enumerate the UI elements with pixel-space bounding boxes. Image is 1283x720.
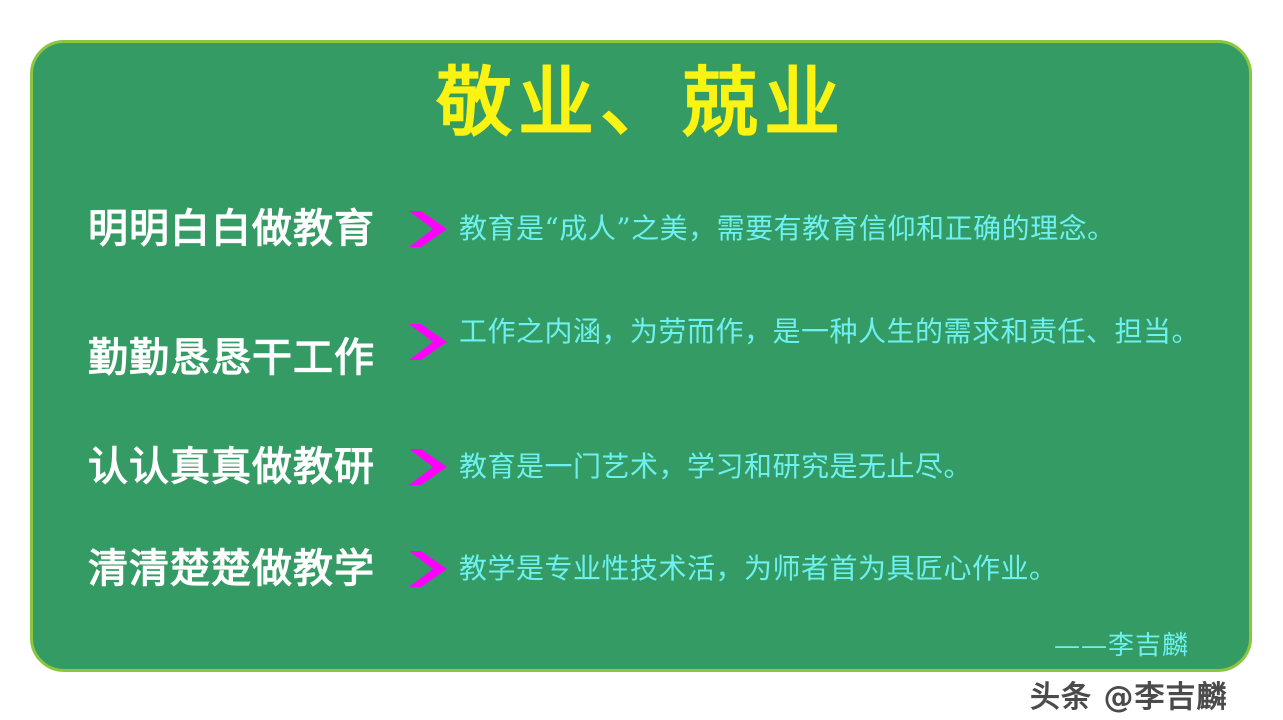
list-item: 勤勤恳恳干工作 工作之内涵，为劳而作，是一种人生的需求和责任、担当。	[33, 316, 1249, 384]
chevron-right-icon	[403, 203, 455, 255]
list-item: 清清楚楚做教学 教学是专业性技术活，为师者首为具匠心作业。	[33, 543, 1249, 595]
row-description: 工作之内涵，为劳而作，是一种人生的需求和责任、担当。	[455, 308, 1249, 356]
row-description: 教育是“成人”之美，需要有教育信仰和正确的理念。	[455, 203, 1249, 255]
attribution-text: ——李吉麟	[1054, 625, 1189, 662]
row-heading: 明明白白做教育	[33, 203, 403, 255]
row-description: 教学是专业性技术活，为师者首为具匠心作业。	[455, 543, 1249, 595]
row-description: 教育是一门艺术，学习和研究是无止尽。	[455, 441, 1249, 493]
row-heading: 清清楚楚做教学	[33, 543, 403, 595]
row-heading: 认认真真做教研	[33, 441, 403, 493]
page-title: 敬业、兢业	[33, 65, 1249, 141]
chevron-right-icon	[403, 543, 455, 595]
row-heading: 勤勤恳恳干工作	[33, 316, 403, 384]
watermark: 头条 @李吉麟	[1030, 672, 1227, 716]
slide-canvas: 敬业、兢业 明明白白做教育 教育是“成人”之美，需要有教育信仰和正确的理念。 勤…	[0, 0, 1283, 720]
chevron-right-icon	[403, 316, 455, 368]
chevron-right-icon	[403, 441, 455, 493]
content-card: 敬业、兢业 明明白白做教育 教育是“成人”之美，需要有教育信仰和正确的理念。 勤…	[30, 40, 1252, 672]
list-item: 认认真真做教研 教育是一门艺术，学习和研究是无止尽。	[33, 441, 1249, 493]
list-item: 明明白白做教育 教育是“成人”之美，需要有教育信仰和正确的理念。	[33, 203, 1249, 255]
